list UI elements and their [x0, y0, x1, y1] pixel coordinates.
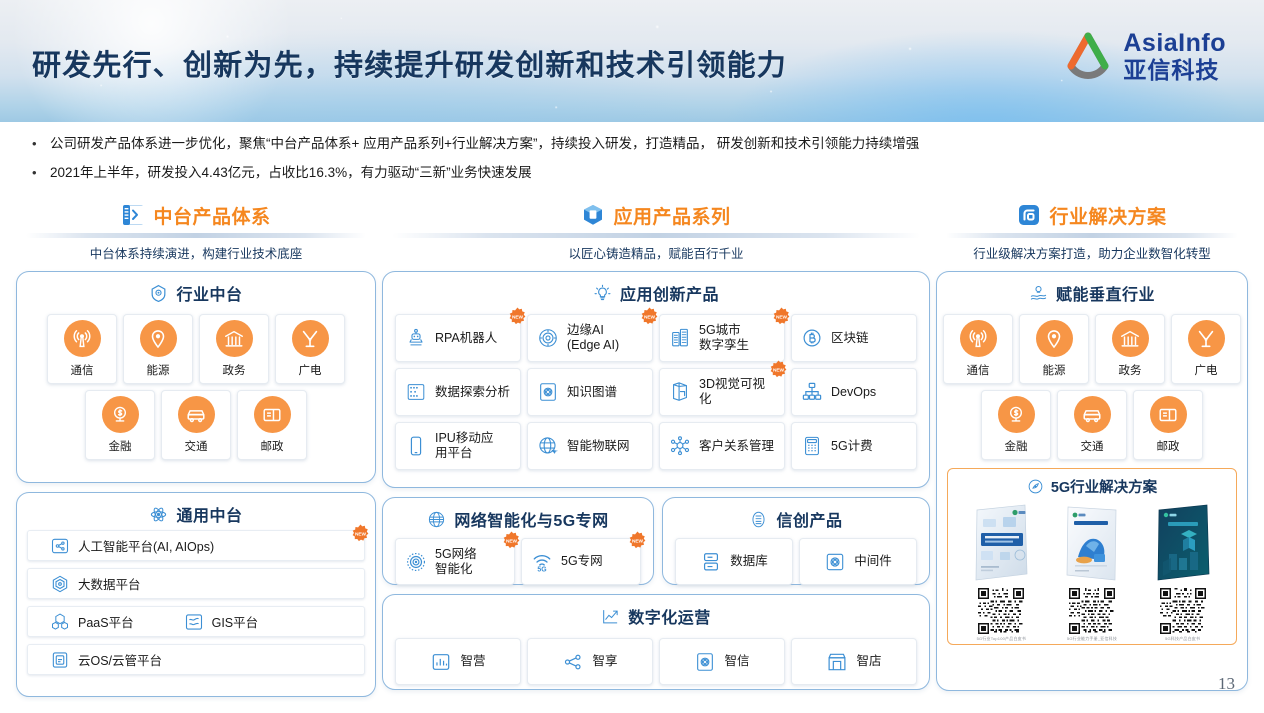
tile-label: IPU移动应用平台	[435, 431, 493, 461]
bullet-text: 公司研发产品体系进一步优化，聚焦“中台产品体系+ 应用产品系列+行业解决方案”，…	[50, 134, 919, 153]
column-industry-solutions: 行业解决方案 行业级解决方案打造，助力企业数智化转型 赋能垂直行业	[936, 200, 1248, 691]
tile-industry[interactable]: 能源	[1019, 314, 1089, 384]
tile-label: 数据库	[730, 554, 768, 569]
tile-product-ipu-mobile[interactable]: IPU移动应用平台	[395, 422, 521, 470]
tile-industry[interactable]: 金融	[981, 390, 1051, 460]
location-pin-icon	[1036, 320, 1073, 357]
list-item-bigdata-platform[interactable]: 大数据平台	[27, 568, 365, 599]
broadcast-antenna-icon	[292, 320, 329, 357]
new-badge-icon: NEW	[502, 531, 521, 550]
list-item-label: 云OS/云管平台	[78, 650, 162, 669]
bullet-list: • 公司研发产品体系进一步优化，聚焦“中台产品体系+ 应用产品系列+行业解决方案…	[28, 134, 1243, 192]
panel-title: 网络智能化与5G专网	[454, 507, 608, 531]
digital-op-tiles-grid: 智营 智享	[383, 632, 929, 688]
list-item-label: 大数据平台	[78, 574, 141, 593]
tile-industry[interactable]: 广电	[275, 314, 345, 384]
data-analysis-icon	[405, 381, 427, 403]
tile-product-knowledge-graph[interactable]: 知识图谱	[527, 368, 653, 416]
tile-label: 5G计费	[831, 439, 873, 454]
new-badge-icon: NEW	[508, 307, 527, 326]
government-bank-icon	[216, 320, 253, 357]
mailbox-icon	[254, 396, 291, 433]
tile-product-5g-private[interactable]: 5G 5G专网 NEW	[521, 538, 641, 585]
billing-calculator-icon	[801, 435, 823, 457]
tile-label: 交通	[185, 438, 208, 454]
list-item-label: GIS平台	[212, 612, 259, 631]
asiainfo-logo: AsiaInfo 亚信科技	[1062, 30, 1226, 82]
industry-tiles-row1: 通信 能源	[17, 311, 375, 387]
tile-label: 区块链	[831, 331, 869, 346]
new-badge-icon: NEW	[351, 524, 370, 543]
chart-growth-icon	[601, 607, 620, 626]
tile-product-middleware[interactable]: 中间件	[799, 538, 917, 585]
robot-icon	[405, 327, 427, 349]
tile-product-5g-city[interactable]: 5G城市数字孪生 NEW	[659, 314, 785, 362]
svg-text:5G: 5G	[537, 566, 546, 572]
tile-product-zhidian[interactable]: 智店	[791, 638, 917, 685]
svg-text:NEW: NEW	[632, 538, 644, 544]
panel-title: 通用中台	[176, 502, 242, 526]
tile-product-data-analysis[interactable]: 数据探索分析	[395, 368, 521, 416]
bullet-marker: •	[28, 163, 50, 182]
tile-label: 5G专网	[561, 554, 603, 569]
panel-digital-operation: 数字化运营 智营 智享	[382, 594, 930, 690]
new-badge-icon: NEW	[772, 307, 791, 326]
location-pin-icon	[140, 320, 177, 357]
panel-industry-midplatform: 行业中台 通信	[16, 271, 376, 483]
qr-caption: 5G行业能力手册_亚信科技	[1067, 636, 1117, 642]
bullet-text: 2021年上半年，研发投入4.43亿元，占收比16.3%，有力驱动“三新”业务快…	[50, 163, 532, 182]
5g-disc-icon	[1027, 478, 1044, 495]
panel-header: 应用创新产品	[383, 272, 929, 309]
tile-label: 金融	[1005, 438, 1028, 454]
column-title: 应用产品系列	[613, 202, 730, 229]
tile-label: 政务	[1119, 362, 1142, 378]
dollar-coin-icon	[998, 396, 1035, 433]
radar-circle-icon	[405, 551, 427, 573]
column-header: 行业解决方案	[936, 200, 1248, 230]
new-badge-icon: NEW	[769, 360, 788, 379]
hand-bulb-icon	[1029, 284, 1048, 303]
list-item-secondary[interactable]: GIS平台	[184, 612, 259, 632]
server-list-icon	[121, 203, 145, 227]
vertical-tiles-row1: 通信 能源	[937, 311, 1247, 387]
tile-industry[interactable]: 邮政	[237, 390, 307, 460]
qr-cell: 5G行业能力手册_亚信科技	[1059, 588, 1125, 642]
qr-caption: 5G行业Top100产品白皮书	[977, 636, 1026, 642]
brochure-5g-capability-handbook[interactable]	[1058, 502, 1126, 584]
tile-label: 广电	[299, 362, 322, 378]
panel-header: 网络智能化与5G专网	[383, 498, 653, 535]
industry-tiles-row2: 金融 交通	[17, 387, 375, 463]
qr-code-1[interactable]	[978, 588, 1024, 634]
qr-code-3[interactable]	[1160, 588, 1206, 634]
list-item-paas-gis[interactable]: PaaS平台 GIS平台	[27, 606, 365, 637]
tile-product-zhiying[interactable]: 智营	[395, 638, 521, 685]
car-icon	[178, 396, 215, 433]
product-box-icon	[581, 203, 605, 227]
list-item-label: 人工智能平台(AI, AIOps)	[78, 536, 214, 555]
tile-label: 智信	[724, 654, 749, 669]
tile-product-rpa[interactable]: RPA机器人 NEW	[395, 314, 521, 362]
tile-label: 智店	[856, 654, 881, 669]
tile-industry[interactable]: 能源	[123, 314, 193, 384]
panel-header: 信创产品	[663, 498, 929, 535]
bullet-marker: •	[28, 134, 50, 153]
tile-industry[interactable]: 邮政	[1133, 390, 1203, 460]
list-item-cloud-os[interactable]: 云OS/云管平台	[27, 644, 365, 675]
tile-product-edge-ai[interactable]: 边缘AI(Edge AI) NEW	[527, 314, 653, 362]
column-subtitle: 中台体系持续演进，构建行业技术底座	[16, 243, 376, 262]
logo-text-en: AsiaInfo	[1123, 31, 1226, 56]
hexagon-layers-icon	[50, 574, 70, 594]
edge-ai-icon	[537, 327, 559, 349]
share-nodes-icon	[50, 536, 70, 556]
tile-label: 能源	[147, 362, 170, 378]
signal-tower-icon	[960, 320, 997, 357]
panel-title: 行业中台	[176, 281, 242, 305]
tile-product-zhixiang[interactable]: 智享	[527, 638, 653, 685]
blockchain-bitcoin-icon	[801, 327, 823, 349]
column-title: 中台产品体系	[153, 202, 270, 229]
tile-label: RPA机器人	[435, 331, 497, 346]
svg-text:NEW: NEW	[506, 538, 518, 544]
innovation-tiles-grid: RPA机器人 NEW 边缘AI(Edge AI)	[383, 309, 929, 473]
slide-bottom-edge	[0, 702, 1264, 713]
tile-label: 5G网络智能化	[435, 547, 477, 577]
panel-title: 应用创新产品	[620, 281, 719, 305]
svg-text:NEW: NEW	[773, 367, 785, 373]
knowledge-graph-icon	[694, 651, 716, 673]
tile-product-iot[interactable]: 智能物联网	[527, 422, 653, 470]
cloud-server-icon	[50, 650, 70, 670]
panel-title: 赋能垂直行业	[1056, 281, 1155, 305]
government-bank-icon	[1112, 320, 1149, 357]
tile-industry[interactable]: 广电	[1171, 314, 1241, 384]
tile-label: 通信	[967, 362, 990, 378]
tile-label: 智营	[460, 654, 485, 669]
database-icon	[700, 551, 722, 573]
panel-empower-vertical: 赋能垂直行业 通信	[936, 271, 1248, 691]
column-application-products: 应用产品系列 以匠心铸造精品，赋能百行千业 应用创新产品	[382, 200, 930, 690]
share-nodes-icon	[562, 651, 584, 673]
tile-label: 智能物联网	[567, 439, 630, 454]
slide-root: 研发先行、创新为先，持续提升研发创新和技术引领能力 AsiaInfo 亚信科技 …	[0, 0, 1264, 713]
bullet-item: • 公司研发产品体系进一步优化，聚焦“中台产品体系+ 应用产品系列+行业解决方案…	[28, 134, 1243, 153]
tile-label: 能源	[1043, 362, 1066, 378]
tile-label: 中间件	[854, 554, 892, 569]
column-subtitle: 行业级解决方案打造，助力企业数智化转型	[936, 243, 1248, 262]
panel-general-midplatform: 通用中台 人工智能平台(AI, AIOps) NEW	[16, 492, 376, 697]
network-globe-icon	[427, 510, 446, 529]
panel-header: 数字化运营	[383, 595, 929, 632]
tile-product-5g-billing[interactable]: 5G计费	[791, 422, 917, 470]
tile-label: 政务	[223, 362, 246, 378]
tile-label: 邮政	[1157, 438, 1180, 454]
signal-tower-icon	[64, 320, 101, 357]
tile-label: 通信	[71, 362, 94, 378]
tile-product-5g-network-intel[interactable]: 5G网络智能化 NEW	[395, 538, 515, 585]
column-divider	[946, 233, 1238, 238]
tile-label: 智享	[592, 654, 617, 669]
tile-industry[interactable]: 通信	[943, 314, 1013, 384]
dollar-coin-icon	[102, 396, 139, 433]
list-item-label: PaaS平台	[78, 612, 134, 631]
tile-product-devops[interactable]: DevOps	[791, 368, 917, 416]
tile-label: 知识图谱	[567, 385, 617, 400]
tile-product-database[interactable]: 数据库	[675, 538, 793, 585]
bullet-item: • 2021年上半年，研发投入4.43亿元，占收比16.3%，有力驱动“三新”业…	[28, 163, 1243, 182]
tile-industry[interactable]: 交通	[161, 390, 231, 460]
qr-caption: 5G科技产品白皮书	[1165, 636, 1200, 642]
mailbox-icon	[1150, 396, 1187, 433]
store-shop-icon	[826, 651, 848, 673]
shield-hexagon-icon	[149, 284, 168, 303]
qr-code-2[interactable]	[1069, 588, 1115, 634]
list-item-ai-platform[interactable]: 人工智能平台(AI, AIOps) NEW	[27, 530, 365, 561]
column-mid-platform: 中台产品体系 中台体系持续演进，构建行业技术底座 行业中台	[16, 200, 376, 697]
column-subtitle: 以匠心铸造精品，赋能百行千业	[382, 243, 930, 262]
tile-label: 数据探索分析	[435, 385, 510, 400]
column-header: 中台产品体系	[16, 200, 376, 230]
panel-row-network-xinchuang: 网络智能化与5G专网 5G网络智能化 NEW	[382, 488, 930, 585]
network-tiles-grid: 5G网络智能化 NEW 5G	[383, 535, 653, 588]
city-building-icon	[669, 327, 691, 349]
tile-industry[interactable]: 交通	[1057, 390, 1127, 460]
asiainfo-logo-mark	[1062, 30, 1114, 82]
vertical-tiles-row2: 金融 交通	[937, 387, 1247, 463]
svg-text:NEW: NEW	[776, 314, 788, 320]
tile-label: DevOps	[831, 385, 876, 400]
middleware-icon	[824, 551, 846, 573]
xinchuang-tiles-grid: 数据库 中间件	[663, 535, 929, 588]
tile-industry[interactable]: 金融	[85, 390, 155, 460]
svg-text:NEW: NEW	[512, 314, 524, 320]
devops-tree-icon	[801, 381, 823, 403]
panel-title: 信创产品	[776, 507, 842, 531]
mobile-phone-icon	[405, 435, 427, 457]
qr-cell: 5G科技产品白皮书	[1150, 588, 1216, 642]
brochure-gallery	[948, 500, 1236, 584]
qr-code-row: 5G行业Top100产品白皮书	[948, 584, 1236, 644]
tile-industry[interactable]: 政务	[199, 314, 269, 384]
column-divider	[392, 233, 920, 238]
svg-text:NEW: NEW	[355, 531, 367, 537]
tile-product-3d-visual[interactable]: 3D视觉可视化 NEW	[659, 368, 785, 416]
lightbulb-icon	[593, 284, 612, 303]
map-globe-icon	[184, 612, 204, 632]
brochure-tech-products[interactable]	[1149, 502, 1217, 584]
column-header: 应用产品系列	[382, 200, 930, 230]
broadcast-antenna-icon	[1188, 320, 1225, 357]
tile-product-zhixin[interactable]: 智信	[659, 638, 785, 685]
iot-globe-icon	[537, 435, 559, 457]
new-badge-icon: NEW	[640, 307, 659, 326]
slide-header: 研发先行、创新为先，持续提升研发创新和技术引领能力 AsiaInfo 亚信科技	[0, 0, 1264, 122]
panel-network-5g: 网络智能化与5G专网 5G网络智能化 NEW	[382, 497, 654, 585]
qr-cell: 5G行业Top100产品白皮书	[968, 588, 1034, 642]
tile-label: 边缘AI(Edge AI)	[567, 323, 619, 353]
tile-label: 邮政	[261, 438, 284, 454]
cube-stack-icon	[50, 612, 70, 632]
document-stack-icon	[749, 510, 768, 529]
tile-industry[interactable]: 政务	[1095, 314, 1165, 384]
page-number: 13	[1218, 674, 1235, 694]
atom-icon	[149, 505, 168, 524]
tile-label: 交通	[1081, 438, 1104, 454]
panel-xinchuang: 信创产品 数据库	[662, 497, 930, 585]
knowledge-graph-icon	[537, 381, 559, 403]
car-icon	[1074, 396, 1111, 433]
panel-header: 通用中台	[17, 493, 375, 530]
solution-header: 5G行业解决方案	[948, 469, 1236, 500]
tile-label: 3D视觉可视化	[699, 377, 775, 407]
solution-title: 5G行业解决方案	[1051, 476, 1157, 497]
svg-text:NEW: NEW	[644, 314, 656, 320]
wifi-5g-icon: 5G	[531, 551, 553, 573]
column-divider	[26, 233, 366, 238]
page-title: 研发先行、创新为先，持续提升研发创新和技术引领能力	[32, 42, 787, 84]
panel-title: 数字化运营	[628, 604, 711, 628]
tile-industry[interactable]: 通信	[47, 314, 117, 384]
3d-visual-icon	[669, 381, 691, 403]
tile-label: 客户关系管理	[699, 439, 774, 454]
panel-innovation-products: 应用创新产品 RPA机器人 NEW	[382, 271, 930, 488]
solution-5g-box: 5G行业解决方案	[947, 468, 1237, 645]
tile-label: 金融	[109, 438, 132, 454]
column-title: 行业解决方案	[1049, 202, 1166, 229]
tile-product-blockchain[interactable]: 区块链	[791, 314, 917, 362]
crm-network-icon	[669, 435, 691, 457]
tile-product-crm[interactable]: 客户关系管理	[659, 422, 785, 470]
brochure-5g-top100[interactable]	[967, 502, 1035, 584]
columns-container: 中台产品体系 中台体系持续演进，构建行业技术底座 行业中台	[0, 200, 1264, 700]
tile-label: 广电	[1195, 362, 1218, 378]
bar-chart-icon	[430, 651, 452, 673]
panel-header: 赋能垂直行业	[937, 272, 1247, 309]
solution-square-icon	[1017, 203, 1041, 227]
panel-header: 行业中台	[17, 272, 375, 309]
new-badge-icon: NEW	[628, 531, 647, 550]
tile-label: 5G城市数字孪生	[699, 323, 749, 353]
logo-text-cn: 亚信科技	[1123, 59, 1226, 82]
